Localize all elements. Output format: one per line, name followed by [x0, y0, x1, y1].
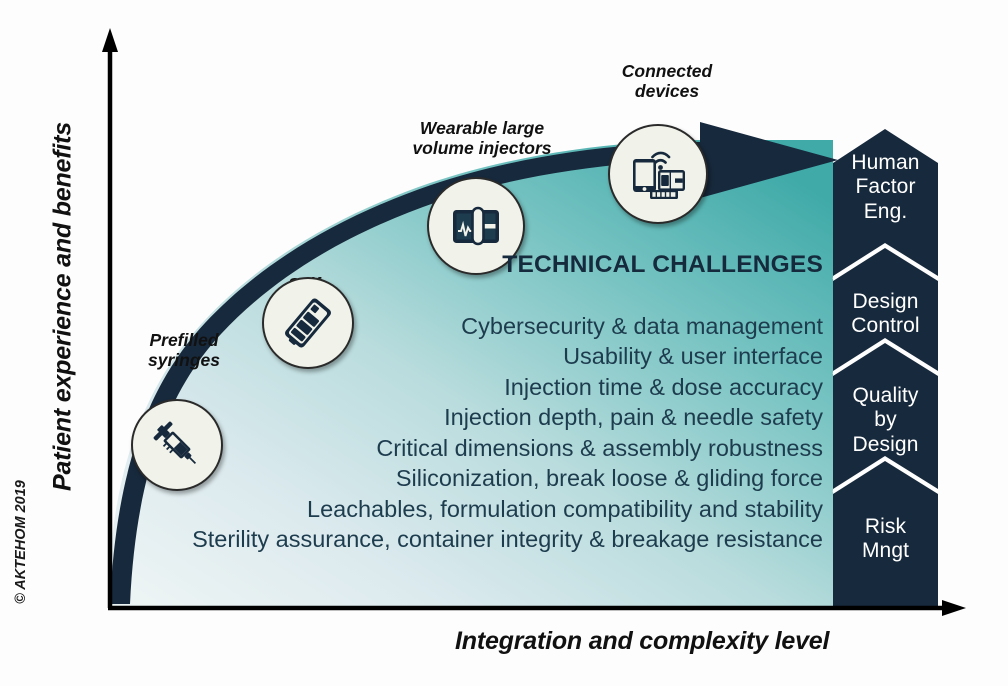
chevron-label-risk-mngt: Risk Mngt: [833, 515, 938, 564]
challenge-item: Usability & user interface: [192, 341, 823, 371]
milestone-label-wearable-injectors: Wearable large volume injectors: [392, 118, 572, 159]
milestone-node-connected-devices[interactable]: [608, 124, 708, 224]
challenge-item: Injection depth, pain & needle safety: [192, 402, 823, 432]
challenge-item: Sterility assurance, container integrity…: [192, 524, 823, 554]
discipline-chevron-labels: Human Factor Eng. Design Control Quality…: [833, 129, 938, 607]
x-axis-arrow-head: [942, 600, 966, 616]
milestone-label-connected-devices: Connected devices: [586, 61, 748, 102]
connected-devices-icon: [627, 145, 689, 203]
chevron-label-quality-by-design: Quality by Design: [833, 384, 938, 457]
y-axis-label: Patient experience and benefits: [49, 72, 78, 542]
challenge-item: Injection time & dose accuracy: [192, 372, 823, 402]
chevron-label-design-control: Design Control: [833, 290, 938, 339]
x-axis-label: Integration and complexity level: [455, 627, 829, 656]
chevron-label-human-factor-eng: Human Factor Eng.: [833, 151, 938, 224]
challenge-item: Cybersecurity & data management: [192, 311, 823, 341]
copyright-notice: © AKTEHOM 2019: [13, 477, 29, 607]
wearable-pump-icon: [447, 197, 505, 255]
technical-challenges-heading: TECHNICAL CHALLENGES: [502, 251, 823, 279]
y-axis-arrow-head: [102, 28, 118, 52]
challenge-item: Critical dimensions & assembly robustnes…: [192, 433, 823, 463]
infographic-canvas: Patient experience and benefits Integrat…: [0, 0, 1008, 686]
technical-challenges-list: Cybersecurity & data management Usabilit…: [192, 311, 823, 554]
challenge-item: Leachables, formulation compatibility an…: [192, 494, 823, 524]
challenge-item: Siliconization, break loose & gliding fo…: [192, 463, 823, 493]
